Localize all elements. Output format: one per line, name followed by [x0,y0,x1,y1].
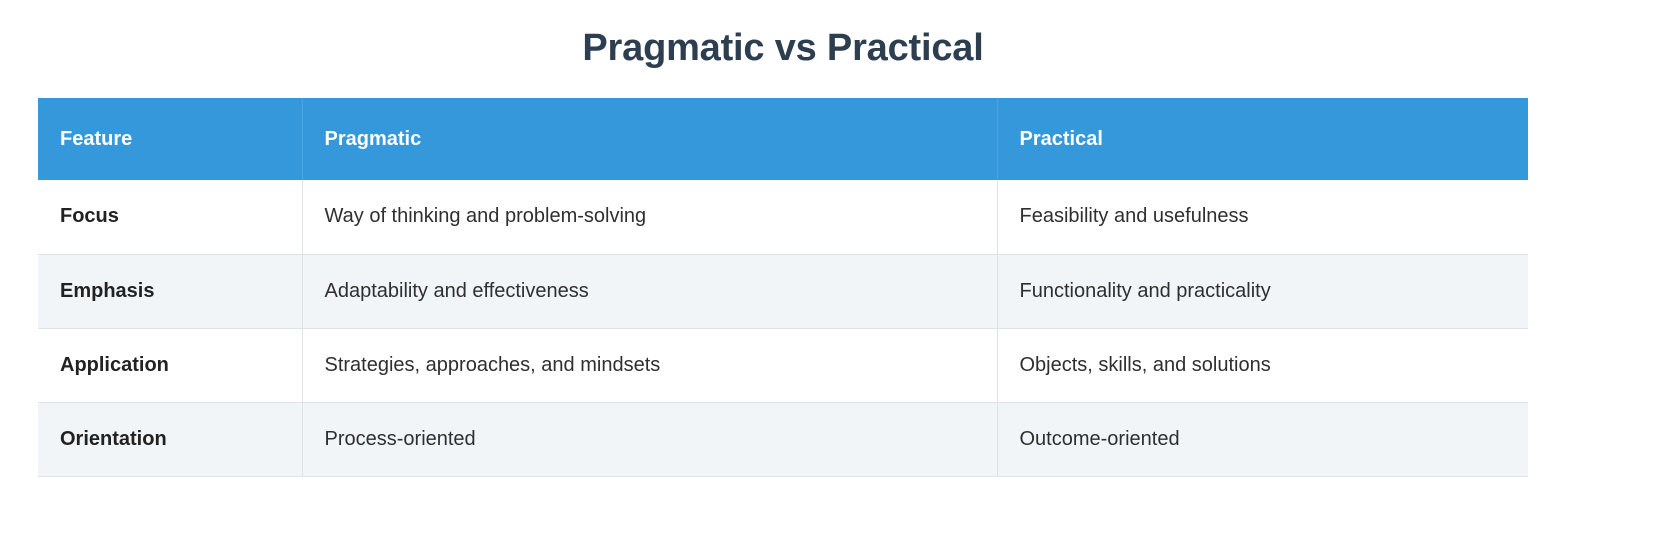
comparison-table: Feature Pragmatic Practical Focus Way of… [38,98,1528,477]
cell-feature: Focus [38,180,302,254]
cell-pragmatic: Way of thinking and problem-solving [302,180,997,254]
cell-feature: Orientation [38,402,302,476]
table-header-row: Feature Pragmatic Practical [38,98,1528,180]
cell-practical: Outcome-oriented [997,402,1528,476]
cell-practical: Objects, skills, and solutions [997,328,1528,402]
column-header-practical[interactable]: Practical [997,98,1528,180]
page-title: Pragmatic vs Practical [0,0,1566,72]
page-root: Pragmatic vs Practical Feature Pragmatic… [0,0,1680,548]
cell-pragmatic: Strategies, approaches, and mindsets [302,328,997,402]
cell-feature: Emphasis [38,254,302,328]
cell-pragmatic: Process-oriented [302,402,997,476]
table-header: Feature Pragmatic Practical [38,98,1528,180]
table-row: Application Strategies, approaches, and … [38,328,1528,402]
column-header-pragmatic[interactable]: Pragmatic [302,98,997,180]
cell-practical: Feasibility and usefulness [997,180,1528,254]
cell-pragmatic: Adaptability and effectiveness [302,254,997,328]
column-header-feature[interactable]: Feature [38,98,302,180]
table-row: Orientation Process-oriented Outcome-ori… [38,402,1528,476]
cell-practical: Functionality and practicality [997,254,1528,328]
cell-feature: Application [38,328,302,402]
table-row: Emphasis Adaptability and effectiveness … [38,254,1528,328]
table-body: Focus Way of thinking and problem-solvin… [38,180,1528,476]
table-row: Focus Way of thinking and problem-solvin… [38,180,1528,254]
comparison-table-container: Feature Pragmatic Practical Focus Way of… [38,98,1528,477]
